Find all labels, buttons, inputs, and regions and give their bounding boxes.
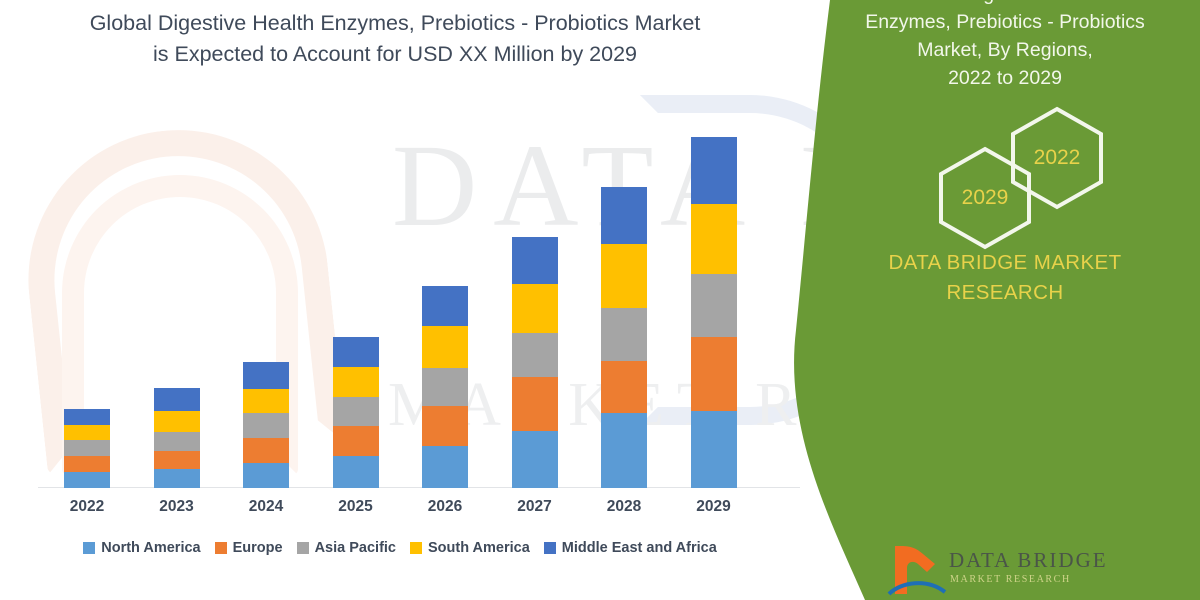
legend-item[interactable]: Middle East and Africa — [544, 540, 717, 556]
bar-segment — [333, 426, 379, 456]
bar-segment — [64, 425, 110, 440]
bar-segment — [422, 286, 468, 326]
bar-column — [154, 388, 200, 488]
legend-swatch-icon — [215, 542, 227, 554]
legend-swatch-icon — [83, 542, 95, 554]
bar-segment — [691, 337, 737, 411]
bar-segment — [601, 413, 647, 488]
legend-swatch-icon — [297, 542, 309, 554]
bar-segment — [333, 456, 379, 488]
x-axis-label: 2029 — [674, 498, 754, 516]
hexagon-group: 2022 2029 — [885, 105, 1165, 235]
bar-segment — [243, 438, 289, 463]
stacked-bar-chart — [38, 110, 800, 488]
chart-legend: North AmericaEuropeAsia PacificSouth Ame… — [0, 540, 800, 556]
right-green-panel: Global Digestive Health Enzymes, Prebiot… — [770, 0, 1200, 600]
green-panel-content: Global Digestive Health Enzymes, Prebiot… — [815, 0, 1200, 600]
logo-subtext: MARKET RESEARCH — [950, 574, 1071, 585]
bar-segment — [422, 326, 468, 368]
legend-label: Asia Pacific — [315, 540, 396, 556]
legend-item[interactable]: Asia Pacific — [297, 540, 396, 556]
bar-segment — [64, 409, 110, 425]
x-axis-label: 2024 — [226, 498, 306, 516]
panel-title-line-3: Market, By Regions, — [815, 36, 1195, 64]
hexagon-end-year: 2029 — [937, 145, 1033, 251]
bar-segment — [691, 204, 737, 274]
hexagon-start-year-label: 2022 — [1034, 146, 1081, 170]
bar-segment — [512, 431, 558, 488]
bar-segment — [512, 377, 558, 431]
bar-segment — [512, 284, 558, 333]
x-axis-label: 2022 — [47, 498, 127, 516]
legend-item[interactable]: South America — [410, 540, 530, 556]
bar-segment — [154, 469, 200, 488]
infographic-root: DATA BRIDGE MARKET RESEARCH Global Diges… — [0, 0, 1200, 600]
bar-segment — [64, 472, 110, 488]
legend-swatch-icon — [410, 542, 422, 554]
chart-title-line-2: is Expected to Account for USD XX Millio… — [0, 39, 790, 70]
bar-segment — [64, 456, 110, 472]
x-axis-label: 2028 — [584, 498, 664, 516]
brand-name: DATA BRIDGE MARKET RESEARCH — [815, 248, 1195, 308]
bar-segment — [333, 397, 379, 426]
x-axis-label: 2027 — [495, 498, 575, 516]
bar-segment — [154, 451, 200, 469]
bar-segment — [691, 411, 737, 488]
x-axis-labels: 20222023202420252026202720282029 — [38, 498, 800, 524]
panel-title-line-2: Enzymes, Prebiotics - Probiotics — [815, 8, 1195, 36]
x-axis-label: 2023 — [137, 498, 217, 516]
legend-label: Europe — [233, 540, 283, 556]
brand-line-1: DATA BRIDGE MARKET — [815, 248, 1195, 278]
bar-segment — [154, 432, 200, 451]
bar-column — [64, 409, 110, 488]
brand-line-2: RESEARCH — [815, 278, 1195, 308]
bar-column — [512, 237, 558, 488]
bar-column — [243, 362, 289, 488]
legend-item[interactable]: Europe — [215, 540, 283, 556]
bar-segment — [422, 406, 468, 446]
bar-segment — [333, 337, 379, 367]
logo-text: DATA BRIDGE — [949, 548, 1108, 573]
bar-segment — [333, 367, 379, 397]
x-axis-label: 2026 — [405, 498, 485, 516]
bar-column — [422, 286, 468, 488]
legend-label: North America — [101, 540, 200, 556]
bar-segment — [512, 333, 558, 377]
bar-segment — [601, 187, 647, 244]
bar-segment — [243, 413, 289, 438]
chart-title-line-1: Global Digestive Health Enzymes, Prebiot… — [0, 8, 790, 39]
bar-segment — [691, 137, 737, 204]
bar-segment — [154, 388, 200, 411]
bar-segment — [691, 274, 737, 337]
bar-segment — [64, 440, 110, 456]
bar-segment — [422, 368, 468, 406]
legend-label: South America — [428, 540, 530, 556]
bar-column — [601, 187, 647, 488]
bar-segment — [243, 463, 289, 488]
chart-title: Global Digestive Health Enzymes, Prebiot… — [0, 8, 790, 70]
panel-title-line-1: Global Digestive Health — [815, 0, 1195, 8]
bar-segment — [243, 389, 289, 413]
hexagon-end-year-label: 2029 — [962, 186, 1009, 210]
bar-segment — [601, 244, 647, 308]
legend-swatch-icon — [544, 542, 556, 554]
bar-segment — [601, 308, 647, 361]
bar-segment — [422, 446, 468, 488]
bar-segment — [512, 237, 558, 284]
bar-column — [333, 337, 379, 488]
legend-item[interactable]: North America — [83, 540, 200, 556]
bridge-logo-icon — [887, 542, 947, 600]
bar-segment — [154, 411, 200, 432]
x-axis-label: 2025 — [316, 498, 396, 516]
panel-title-line-4: 2022 to 2029 — [815, 64, 1195, 92]
legend-label: Middle East and Africa — [562, 540, 717, 556]
bar-segment — [601, 361, 647, 413]
bar-segment — [243, 362, 289, 389]
bar-column — [691, 137, 737, 488]
data-bridge-logo: DATA BRIDGE MARKET RESEARCH — [887, 540, 1147, 600]
panel-title: Global Digestive Health Enzymes, Prebiot… — [815, 0, 1195, 92]
